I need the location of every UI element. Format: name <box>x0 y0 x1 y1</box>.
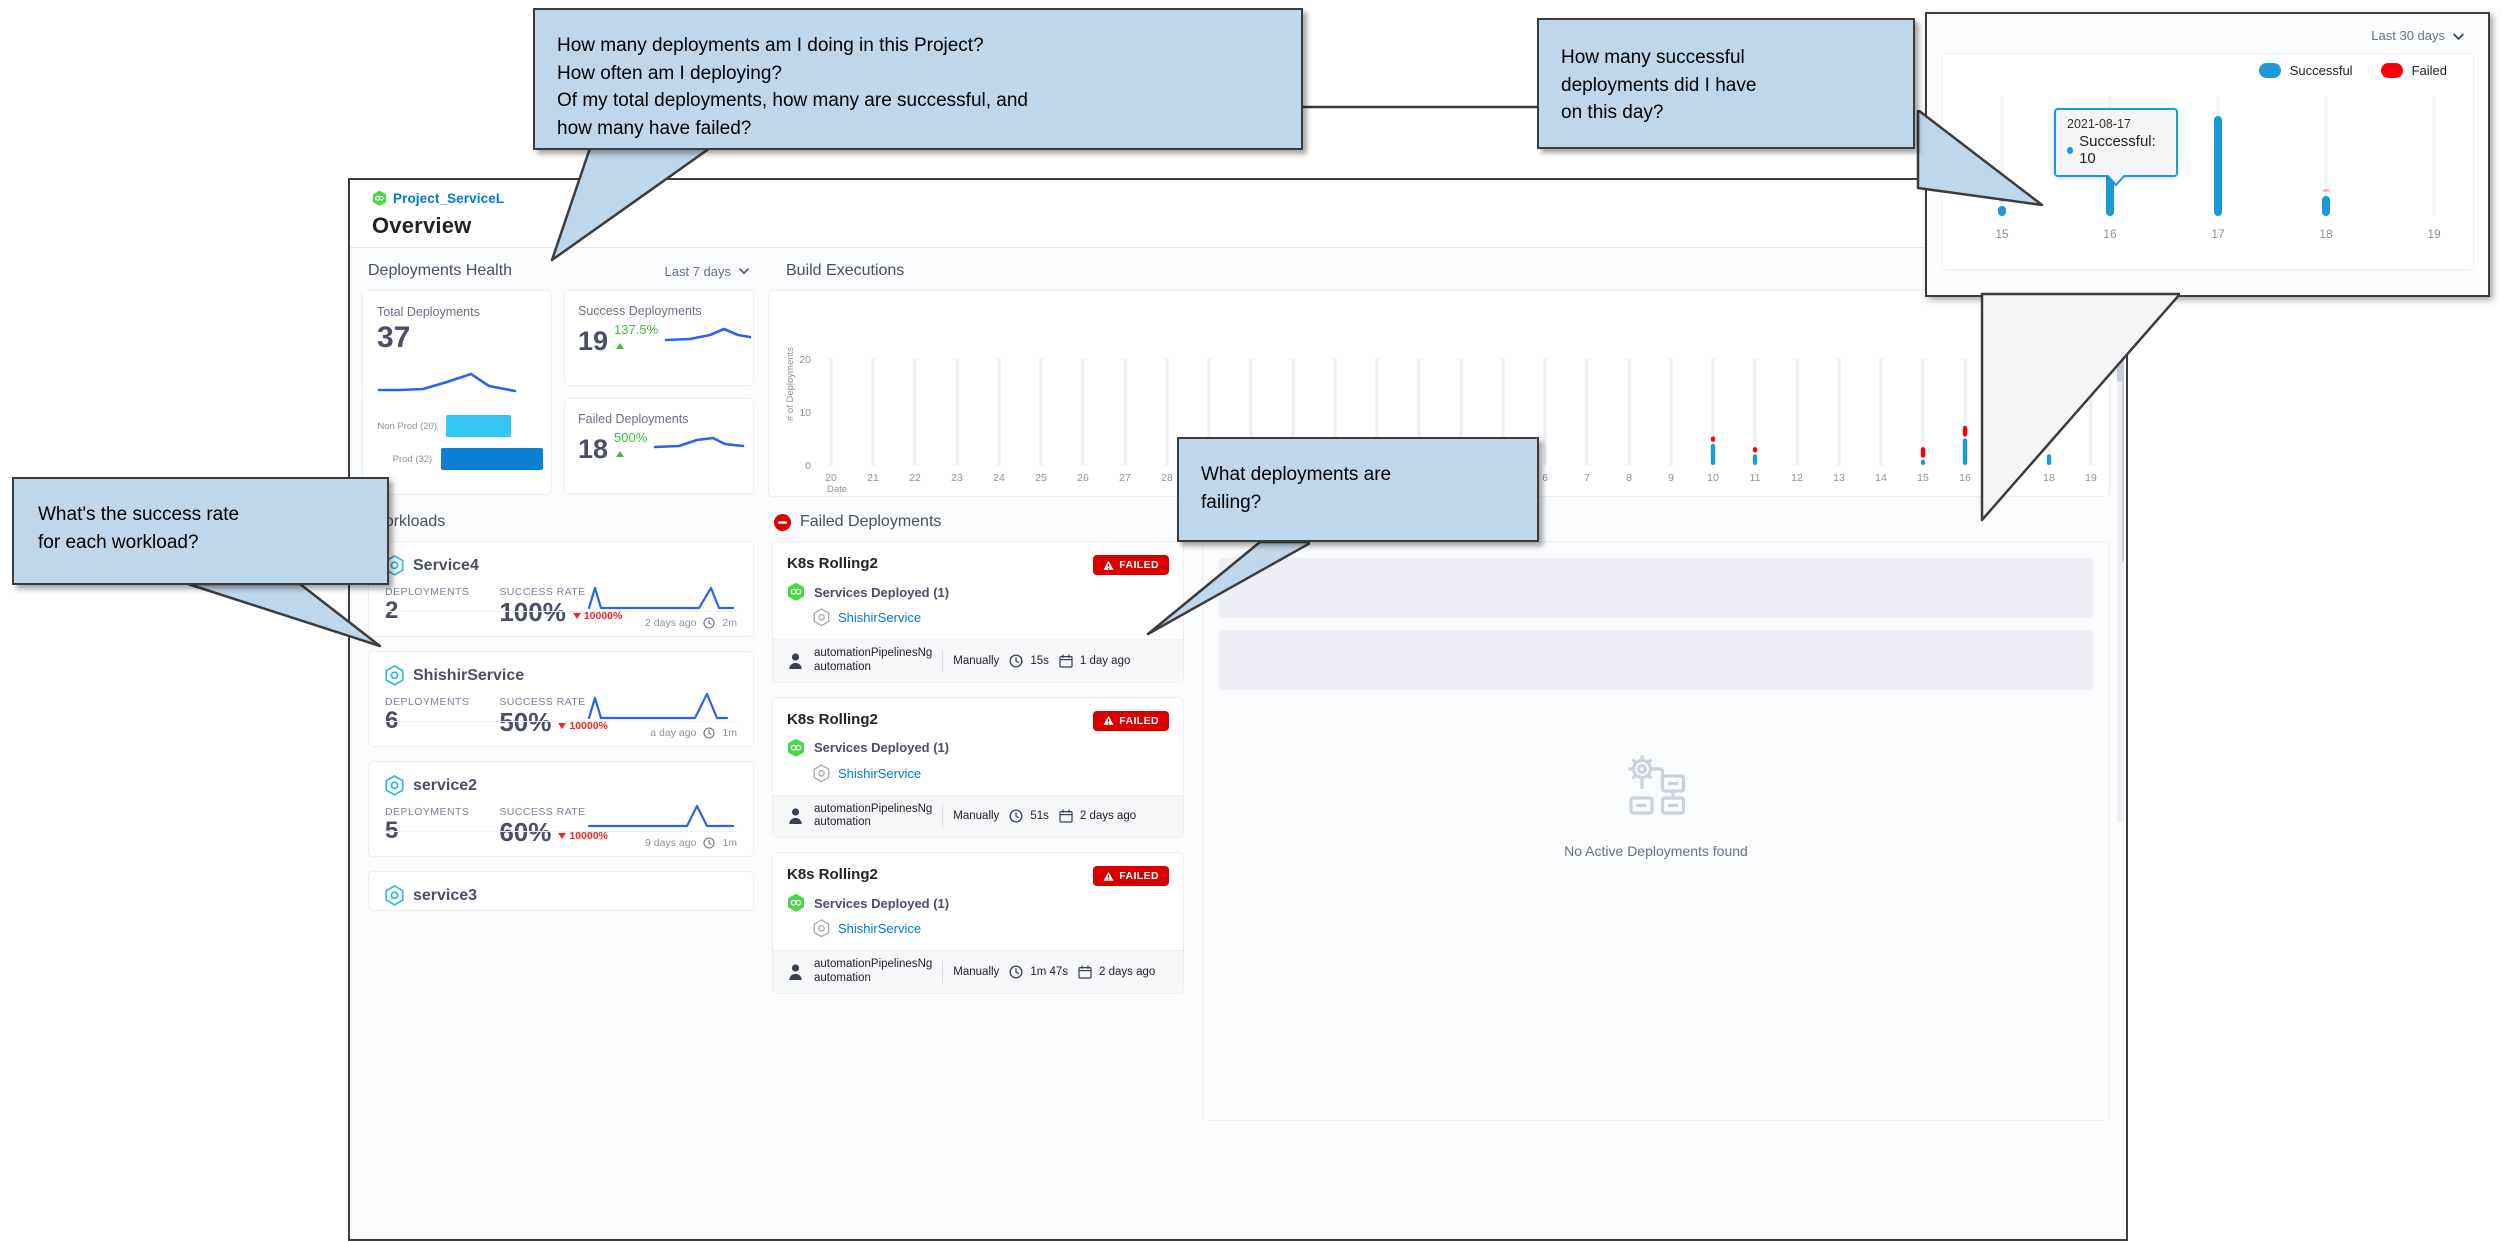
bubble-connector-line <box>1300 100 1544 114</box>
failed-deployment-card[interactable]: K8s Rolling2FAILEDServices Deployed (1)S… <box>772 541 1184 683</box>
breadcrumb-project-name[interactable]: Project_ServiceL <box>393 191 504 206</box>
user-line-1: automationPipelinesNg <box>814 647 932 659</box>
callout-bubble-successful-day: How many successful deployments did I ha… <box>1537 18 1915 149</box>
legend-label-successful: Successful <box>2290 63 2353 78</box>
legend-item-successful[interactable]: Successful <box>2259 63 2353 78</box>
calendar-icon <box>1059 809 1073 823</box>
tooltip-value-row: Successful: 10 <box>2067 133 2164 167</box>
bar-label-prod: Prod (32) <box>373 454 441 465</box>
failed-deployments-title-row: Failed Deployments <box>772 505 1184 541</box>
svg-text:20: 20 <box>799 354 811 366</box>
clock-icon <box>703 727 715 739</box>
bar-nonprod <box>446 415 511 437</box>
success-deployments-value-row: 19 137.5% <box>578 322 740 355</box>
workloads-list[interactable]: Service4DEPLOYMENTS2SUCCESS RATE100%1000… <box>368 541 754 911</box>
triggered-by-user: automationPipelinesNgautomation <box>814 803 932 831</box>
skeleton-row <box>1219 558 2093 618</box>
failed-deployment-title-row: K8s Rolling2FAILED <box>787 866 1169 886</box>
deployments-health-range-picker[interactable]: Last 7 days <box>665 264 751 279</box>
svg-text:9: 9 <box>1668 472 1674 484</box>
legend-label-failed: Failed <box>2412 63 2447 78</box>
svg-text:18: 18 <box>2319 227 2333 241</box>
workload-footer: 9 days ago1m <box>385 831 737 849</box>
failed-deployment-body: K8s Rolling2FAILEDServices Deployed (1)S… <box>773 542 1183 639</box>
svg-text:25: 25 <box>1035 472 1047 484</box>
duration-meta: 15s <box>1009 654 1049 668</box>
when-meta: 2 days ago <box>1059 809 1136 823</box>
pipeline-hex-icon <box>787 893 805 913</box>
duration-value: 1m 47s <box>1030 966 1068 978</box>
deployments-health-title: Deployments Health <box>368 262 512 280</box>
bar-row-prod: Prod (32) <box>373 447 543 471</box>
total-deployments-value: 37 <box>377 321 537 356</box>
tooltip-series-text: Successful: 10 <box>2079 133 2164 167</box>
calendar-icon <box>1059 654 1073 668</box>
health-cards-grid: Total Deployments 37 Non Prod (20) <box>350 290 768 495</box>
active-deployments-empty-text: No Active Deployments found <box>1564 843 1748 859</box>
failed-deployment-body: K8s Rolling2FAILEDServices Deployed (1)S… <box>773 698 1183 795</box>
failed-deployment-body: K8s Rolling2FAILEDServices Deployed (1)S… <box>773 853 1183 950</box>
tooltip-date: 2021-08-17 <box>2067 117 2164 131</box>
services-deployed-row: Services Deployed (1) <box>787 582 1169 602</box>
divider <box>942 805 943 827</box>
svg-text:15: 15 <box>1917 472 1929 484</box>
workload-name-row: service2 <box>385 775 737 796</box>
user-line-2: automation <box>814 972 871 984</box>
total-deployments-sparkline <box>377 358 537 405</box>
svg-text:21: 21 <box>867 472 879 484</box>
failed-deployment-title: K8s Rolling2 <box>787 555 878 572</box>
clock-icon <box>1009 965 1023 979</box>
workloads-title-row: Workloads <box>368 505 754 541</box>
calendar-icon <box>1078 965 1092 979</box>
bar-label-nonprod: Non Prod (20) <box>373 421 446 432</box>
workload-duration: 1m <box>722 727 737 739</box>
status-badge: FAILED <box>1093 555 1169 575</box>
user-avatar-icon <box>787 652 804 670</box>
status-badge-label: FAILED <box>1119 559 1159 571</box>
failed-deployment-card[interactable]: K8s Rolling2FAILEDServices Deployed (1)S… <box>772 852 1184 994</box>
deployed-service-row[interactable]: ShishirService <box>813 764 1169 783</box>
services-deployed-row: Services Deployed (1) <box>787 893 1169 913</box>
success-deployments-label: Success Deployments <box>578 304 740 318</box>
success-deployments-sparkline <box>664 322 752 355</box>
service-hex-icon <box>385 885 404 906</box>
failed-deployments-value-row: 18 500% <box>578 430 740 463</box>
clock-icon <box>1009 654 1023 668</box>
failed-deployments-title: Failed Deployments <box>800 513 941 531</box>
trigger-type-label: Manually <box>953 966 999 978</box>
workload-card[interactable]: ShishirServiceDEPLOYMENTS6SUCCESS RATE50… <box>368 651 754 747</box>
service-hex-icon <box>385 775 404 796</box>
failed-deployment-title: K8s Rolling2 <box>787 711 878 728</box>
failed-deployments-card[interactable]: Failed Deployments 18 500% <box>564 398 754 494</box>
status-badge: FAILED <box>1093 711 1169 731</box>
trigger-type: Manually <box>953 655 999 667</box>
service-hex-icon <box>385 665 404 686</box>
bar-row-nonprod: Non Prod (20) <box>373 414 543 438</box>
trigger-type: Manually <box>953 810 999 822</box>
services-deployed-row: Services Deployed (1) <box>787 738 1169 758</box>
app-header: Project_ServiceL Overview <box>350 180 2126 248</box>
service-hex-icon <box>813 764 830 783</box>
warning-triangle-icon <box>1103 871 1114 882</box>
svg-text:19: 19 <box>2427 227 2441 241</box>
callout-bubble-success-rate: What's the success rate for each workloa… <box>12 477 389 585</box>
svg-text:16: 16 <box>1959 472 1971 484</box>
workload-card[interactable]: Service4DEPLOYMENTS2SUCCESS RATE100%1000… <box>368 541 754 637</box>
page-title: Overview <box>372 213 2126 239</box>
failed-deployments-delta: 500% <box>614 430 647 463</box>
service-hex-icon <box>813 608 830 627</box>
duration-value: 51s <box>1030 810 1049 822</box>
user-avatar-icon <box>787 963 804 981</box>
pipeline-hex-icon <box>787 738 805 758</box>
svg-text:26: 26 <box>1077 472 1089 484</box>
workload-footer: 2 days ago2m <box>385 611 737 629</box>
callout-line: How often am I deploying? <box>557 60 1283 88</box>
svg-text:16: 16 <box>2103 227 2117 241</box>
skeleton-row <box>1219 630 2093 690</box>
chevron-down-icon <box>738 265 750 277</box>
callout-line: What deployments are <box>1201 461 1519 489</box>
legend-item-failed[interactable]: Failed <box>2381 63 2447 78</box>
workload-name: service2 <box>413 777 477 795</box>
trigger-type-label: Manually <box>953 655 999 667</box>
tooltip-panel-header: Last 30 days <box>1927 14 2488 43</box>
svg-text:18: 18 <box>2043 472 2055 484</box>
deployed-service-row[interactable]: ShishirService <box>813 608 1169 627</box>
when-value: 2 days ago <box>1099 966 1155 978</box>
breadcrumb[interactable]: Project_ServiceL <box>372 188 2126 208</box>
svg-text:10: 10 <box>1707 472 1719 484</box>
svg-text:27: 27 <box>1119 472 1131 484</box>
failed-deployment-title-row: K8s Rolling2FAILED <box>787 555 1169 575</box>
failed-deployments-value: 18 <box>578 436 608 463</box>
duration-meta: 51s <box>1009 809 1049 823</box>
pipeline-hex-icon <box>787 582 805 602</box>
legend-swatch-successful <box>2259 63 2281 78</box>
deployed-service-name[interactable]: ShishirService <box>838 921 921 936</box>
callout-line: Of my total deployments, how many are su… <box>557 87 1283 115</box>
callout-bubble-failing: What deployments are failing? <box>1177 437 1539 542</box>
workload-card[interactable]: service2DEPLOYMENTS5SUCCESS RATE60%10000… <box>368 761 754 857</box>
callout-line: deployments did I have <box>1561 72 1893 100</box>
workload-last-run: 2 days ago <box>645 617 696 629</box>
deployments-by-env-chart: Non Prod (20) Prod (32) <box>373 414 543 480</box>
svg-text:11: 11 <box>1750 472 1761 484</box>
failed-deployment-title-row: K8s Rolling2FAILED <box>787 711 1169 731</box>
callout-line: How many successful <box>1561 44 1893 72</box>
user-line-1: automationPipelinesNg <box>814 958 932 970</box>
callout-bubble-deployments: How many deployments am I doing in this … <box>533 8 1303 150</box>
success-deployments-delta: 137.5% <box>614 322 658 355</box>
deployed-service-name[interactable]: ShishirService <box>838 766 921 781</box>
workload-name: service3 <box>413 887 477 905</box>
callout-line: How many deployments am I doing in this … <box>557 32 1283 60</box>
svg-text:22: 22 <box>909 472 921 484</box>
services-deployed-label: Services Deployed (1) <box>814 740 949 755</box>
triangle-up-icon <box>616 343 624 349</box>
deployments-health-header: Deployments Health Last 7 days <box>350 248 768 290</box>
tooltip-panel-legend: Successful Failed <box>1942 54 2473 78</box>
workload-name: Service4 <box>413 557 479 575</box>
deployed-service-row[interactable]: ShishirService <box>813 919 1169 938</box>
triggered-by-user: automationPipelinesNgautomation <box>814 647 932 675</box>
callout-line: how many have failed? <box>557 115 1283 143</box>
clock-icon <box>703 617 715 629</box>
user-line-2: automation <box>814 816 871 828</box>
svg-text:0: 0 <box>805 460 811 472</box>
workload-duration: 1m <box>722 837 737 849</box>
success-deployments-value: 19 <box>578 328 608 355</box>
legend-swatch-failed <box>2381 63 2403 78</box>
build-executions-header: Build Executions <box>768 248 2126 290</box>
triggered-by-user: automationPipelinesNgautomation <box>814 958 932 986</box>
workload-duration: 2m <box>722 617 737 629</box>
failed-deployments-sparkline <box>653 430 745 463</box>
build-executions-title: Build Executions <box>786 262 904 280</box>
workload-footer: a day ago1m <box>385 721 737 739</box>
when-value: 1 day ago <box>1080 655 1131 667</box>
project-hex-icon <box>372 190 387 207</box>
workload-name-row: ShishirService <box>385 665 737 686</box>
duration-meta: 1m 47s <box>1009 965 1068 979</box>
user-avatar-icon <box>787 807 804 825</box>
callout-line: failing? <box>1201 489 1519 517</box>
svg-text:28: 28 <box>1161 472 1173 484</box>
lower-row: Workloads Service4DEPLOYMENTS2SUCCESS RA… <box>350 497 2126 1121</box>
failed-deployment-footer: automationPipelinesNgautomationManually5… <box>773 795 1183 838</box>
failed-deployment-card[interactable]: K8s Rolling2FAILEDServices Deployed (1)S… <box>772 697 1184 839</box>
tooltip-panel-chart-card[interactable]: Successful Failed 1516171819 2021-08-17 … <box>1941 53 2474 270</box>
workload-last-run: a day ago <box>650 727 696 739</box>
tooltip-panel-range-picker[interactable]: Last 30 days <box>2371 28 2464 43</box>
clock-icon <box>1009 809 1023 823</box>
user-line-2: automation <box>814 661 871 673</box>
callout-line: for each workload? <box>38 529 369 557</box>
active-deployments-empty-state: No Active Deployments found <box>1219 748 2093 859</box>
deployed-service-name[interactable]: ShishirService <box>838 610 921 625</box>
active-deployments-section: Active Deployments <box>1184 505 2126 1121</box>
trigger-type-label: Manually <box>953 810 999 822</box>
svg-text:15: 15 <box>1995 227 2009 241</box>
svg-text:19: 19 <box>2085 472 2097 484</box>
chart-hover-tooltip: 2021-08-17 Successful: 10 <box>2054 108 2178 177</box>
workload-name-row: Service4 <box>385 555 737 576</box>
services-deployed-label: Services Deployed (1) <box>814 585 949 600</box>
svg-text:17: 17 <box>2001 472 2013 484</box>
callout-line: on this day? <box>1561 99 1893 127</box>
bar-prod <box>441 448 543 470</box>
active-deployments-panel: No Active Deployments found <box>1202 541 2110 1121</box>
failed-deployments-list[interactable]: K8s Rolling2FAILEDServices Deployed (1)S… <box>772 541 1184 994</box>
workload-last-run: 9 days ago <box>645 837 696 849</box>
duration-value: 15s <box>1030 655 1049 667</box>
clock-icon <box>703 837 715 849</box>
svg-text:13: 13 <box>1833 472 1845 484</box>
workload-name: ShishirService <box>413 667 524 685</box>
deployment-graph-icon <box>1618 748 1694 829</box>
triangle-up-icon <box>616 451 624 457</box>
status-badge: FAILED <box>1093 866 1169 886</box>
failed-deployments-section: Failed Deployments K8s Rolling2FAILEDSer… <box>754 505 1184 1121</box>
when-value: 2 days ago <box>1080 810 1136 822</box>
deployments-health-section: Deployments Health Last 7 days Total Dep… <box>350 248 768 497</box>
callout-line: What's the success rate <box>38 501 369 529</box>
warning-triangle-icon <box>1103 715 1114 726</box>
svg-text:# of Deployments: # of Deployments <box>785 347 796 421</box>
workload-card[interactable]: service3 <box>368 871 754 911</box>
svg-text:6: 6 <box>1542 472 1548 484</box>
health-right-cards: Success Deployments 19 137.5% <box>564 290 754 495</box>
tooltip-panel-range-label: Last 30 days <box>2371 28 2445 43</box>
app-window: Project_ServiceL Overview Deployments He… <box>348 178 2128 1241</box>
when-meta: 2 days ago <box>1078 965 1155 979</box>
workload-name-row: service3 <box>385 885 737 906</box>
total-deployments-card[interactable]: Total Deployments 37 Non Prod (20) <box>362 290 552 495</box>
failed-deployment-title: K8s Rolling2 <box>787 866 878 883</box>
svg-text:8: 8 <box>1626 472 1632 484</box>
success-deployments-card[interactable]: Success Deployments 19 137.5% <box>564 290 754 386</box>
deployments-tooltip-panel: Last 30 days Successful Failed 151617181… <box>1925 12 2490 297</box>
divider <box>942 961 943 983</box>
total-deployments-label: Total Deployments <box>377 305 537 319</box>
svg-text:20: 20 <box>825 472 837 484</box>
failed-deployment-footer: automationPipelinesNgautomationManually1… <box>773 639 1183 682</box>
workloads-section: Workloads Service4DEPLOYMENTS2SUCCESS RA… <box>350 505 754 1121</box>
minus-circle-icon <box>774 514 791 531</box>
warning-triangle-icon <box>1103 560 1114 571</box>
range-label: Last 7 days <box>665 264 732 279</box>
services-deployed-label: Services Deployed (1) <box>814 896 949 911</box>
svg-text:14: 14 <box>1875 472 1887 484</box>
user-line-1: automationPipelinesNg <box>814 803 932 815</box>
service-hex-icon <box>813 919 830 938</box>
when-meta: 1 day ago <box>1059 654 1131 668</box>
svg-text:10: 10 <box>799 407 811 419</box>
svg-text:24: 24 <box>993 472 1005 484</box>
failed-deployments-label: Failed Deployments <box>578 412 740 426</box>
svg-text:12: 12 <box>1791 472 1803 484</box>
svg-text:17: 17 <box>2211 227 2225 241</box>
trigger-type: Manually <box>953 966 999 978</box>
status-badge-label: FAILED <box>1119 870 1159 882</box>
divider <box>942 650 943 672</box>
chevron-down-icon <box>2452 30 2464 42</box>
svg-text:23: 23 <box>951 472 963 484</box>
svg-text:Date: Date <box>827 484 847 495</box>
status-badge-label: FAILED <box>1119 715 1159 727</box>
tooltip-series-dot <box>2067 147 2073 154</box>
failed-deployment-footer: automationPipelinesNgautomationManually1… <box>773 950 1183 993</box>
svg-text:7: 7 <box>1584 472 1590 484</box>
